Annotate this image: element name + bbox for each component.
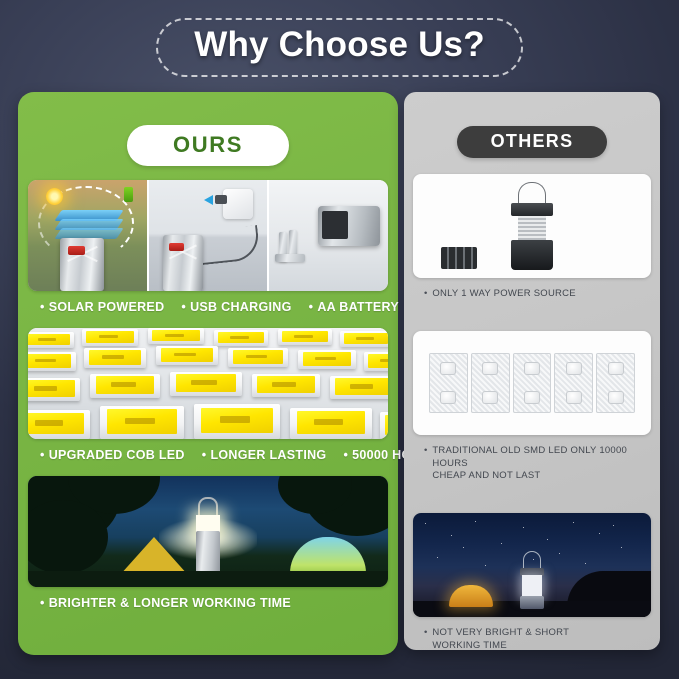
ours-features-row-1: •SOLAR POWERED •USB CHARGING •AA BATTERY — [40, 300, 388, 314]
page-title-container: Why Choose Us? — [0, 18, 679, 77]
smd-led-strip — [429, 353, 468, 413]
ours-panel: OURS — [18, 92, 398, 655]
ours-pill: OURS — [127, 125, 289, 166]
bullet-icon: • — [181, 300, 186, 314]
charging-cable — [199, 225, 260, 265]
lantern-red-label — [68, 246, 85, 255]
bullet-icon: • — [424, 445, 427, 483]
others-pill-label: OTHERS — [491, 131, 574, 151]
smd-led-strip — [596, 353, 635, 413]
starry-night-scene — [413, 513, 651, 617]
wall-outlet-icon — [223, 189, 253, 219]
starry-night-dim-lantern-photo — [413, 513, 651, 617]
solar-charging-scene — [28, 180, 149, 291]
feature-label: BRIGHTER & LONGER WORKING TIME — [49, 596, 291, 610]
camping-bright-lantern-photo — [28, 476, 388, 587]
glowing-tent — [449, 585, 493, 607]
others-features-row-3: • NOT VERY BRIGHT & SHORT WORKING TIME — [424, 627, 652, 653]
feature-item: •USB CHARGING — [181, 300, 291, 314]
bright-lantern — [193, 497, 223, 581]
feature-label: TRADITIONAL OLD SMD LED ONLY 10000 HOURS — [432, 445, 652, 471]
bullet-icon: • — [424, 627, 427, 653]
cob-led-chips-photo — [28, 328, 388, 439]
bullet-icon: • — [424, 288, 427, 301]
page-title: Why Choose Us? — [194, 27, 485, 64]
aa-battery-icon — [275, 254, 305, 262]
dim-lantern — [519, 551, 545, 609]
battery-compartment — [318, 206, 380, 246]
feature-value: 50000 — [352, 448, 388, 462]
others-panel: OTHERS • ONLY 1 WAY POWER SOURCE • TRADI… — [404, 92, 660, 650]
others-header-row: OTHERS — [412, 100, 652, 158]
smd-led-strip-row — [429, 353, 635, 413]
feature-label: WORKING TIME — [432, 640, 569, 653]
feature-label: CHEAP AND NOT LAST — [432, 470, 652, 483]
feature-item: •AA BATTERY — [309, 300, 399, 314]
power-sources-photo — [28, 180, 388, 291]
bullet-icon: • — [343, 448, 348, 462]
battery-icon — [124, 187, 133, 202]
others-pill: OTHERS — [457, 126, 608, 158]
feature-label: SOLAR POWERED — [49, 300, 165, 314]
feature-item: •BRIGHTER & LONGER WORKING TIME — [40, 596, 291, 610]
night-campsite-scene — [28, 476, 388, 587]
usb-plug-icon — [215, 195, 227, 204]
ours-features-row-2: •UPGRADED COB LED •LONGER LASTING •50000… — [40, 448, 388, 462]
aa-batteries-group — [441, 247, 477, 269]
feature-label: AA BATTERY — [317, 300, 399, 314]
others-features-row-2: • TRADITIONAL OLD SMD LED ONLY 10000 HOU… — [424, 445, 652, 483]
smd-led-strip — [513, 353, 552, 413]
bullet-icon: • — [202, 448, 207, 462]
feature-item: •UPGRADED COB LED — [40, 448, 185, 462]
ours-header-row: OURS — [28, 102, 388, 166]
cob-led-array — [28, 328, 388, 439]
usb-wall-charging-scene — [149, 180, 270, 291]
smd-led-strip — [554, 353, 593, 413]
blue-arrow-icon — [204, 195, 213, 205]
sun-icon — [46, 188, 63, 205]
feature-item: •LONGER LASTING — [202, 448, 327, 462]
aa-battery-scene — [269, 180, 388, 291]
black-lantern — [507, 182, 557, 270]
feature-label: ONLY 1 WAY POWER SOURCE — [432, 288, 576, 301]
bullet-icon: • — [40, 300, 45, 314]
title-dashed-frame: Why Choose Us? — [156, 18, 523, 77]
others-features-row-1: • ONLY 1 WAY POWER SOURCE — [424, 288, 652, 301]
feature-label: LONGER LASTING — [210, 448, 326, 462]
black-lantern-with-batteries-photo — [413, 174, 651, 278]
feature-label: UPGRADED COB LED — [49, 448, 185, 462]
bullet-icon: • — [40, 596, 45, 610]
ours-pill-label: OURS — [173, 132, 243, 157]
ours-features-row-3: •BRIGHTER & LONGER WORKING TIME — [40, 596, 388, 610]
traditional-smd-led-strips-photo — [413, 331, 651, 435]
bullet-icon: • — [309, 300, 314, 314]
feature-label: USB CHARGING — [190, 300, 292, 314]
feature-item: •SOLAR POWERED — [40, 300, 164, 314]
bullet-icon: • — [40, 448, 45, 462]
lantern-red-label — [169, 243, 184, 251]
feature-label: NOT VERY BRIGHT & SHORT — [432, 627, 569, 640]
smd-led-strip — [471, 353, 510, 413]
